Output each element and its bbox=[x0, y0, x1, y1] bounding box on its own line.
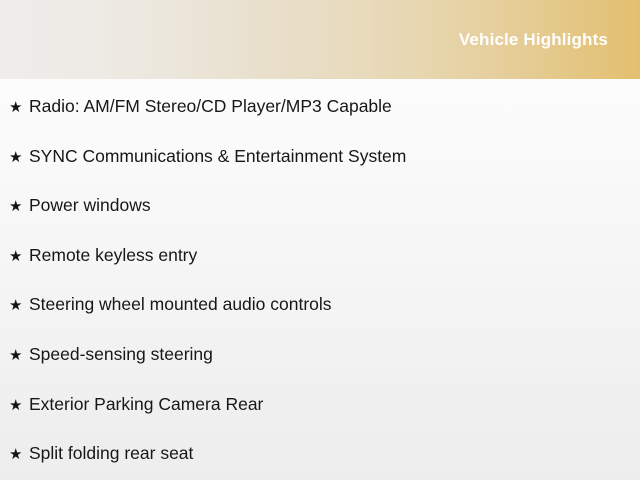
header-bar: Vehicle Highlights bbox=[0, 0, 640, 79]
star-bullet-icon: ★ bbox=[9, 249, 29, 264]
star-bullet-icon: ★ bbox=[9, 398, 29, 413]
list-item: ★ Split folding rear seat bbox=[0, 445, 640, 480]
list-item-label: Radio: AM/FM Stereo/CD Player/MP3 Capabl… bbox=[29, 98, 392, 116]
list-item: ★ Exterior Parking Camera Rear bbox=[0, 396, 640, 446]
list-item-label: Steering wheel mounted audio controls bbox=[29, 296, 332, 314]
list-item-label: Remote keyless entry bbox=[29, 247, 197, 265]
vehicle-highlights-panel: Vehicle Highlights ★ Radio: AM/FM Stereo… bbox=[0, 0, 640, 480]
star-bullet-icon: ★ bbox=[9, 150, 29, 165]
star-bullet-icon: ★ bbox=[9, 447, 29, 462]
list-item-label: SYNC Communications & Entertainment Syst… bbox=[29, 148, 406, 166]
list-item: ★ SYNC Communications & Entertainment Sy… bbox=[0, 148, 640, 198]
star-bullet-icon: ★ bbox=[9, 348, 29, 363]
star-bullet-icon: ★ bbox=[9, 199, 29, 214]
list-item: ★ Steering wheel mounted audio controls bbox=[0, 296, 640, 346]
vehicle-highlights-list: ★ Radio: AM/FM Stereo/CD Player/MP3 Capa… bbox=[0, 79, 640, 480]
list-item: ★ Speed-sensing steering bbox=[0, 346, 640, 396]
list-item-label: Exterior Parking Camera Rear bbox=[29, 396, 263, 414]
star-bullet-icon: ★ bbox=[9, 100, 29, 115]
list-item: ★ Radio: AM/FM Stereo/CD Player/MP3 Capa… bbox=[0, 79, 640, 148]
list-item-label: Power windows bbox=[29, 197, 151, 215]
page-title: Vehicle Highlights bbox=[459, 31, 640, 48]
star-bullet-icon: ★ bbox=[9, 298, 29, 313]
list-item-label: Speed-sensing steering bbox=[29, 346, 213, 364]
list-item-label: Split folding rear seat bbox=[29, 445, 193, 463]
list-item: ★ Power windows bbox=[0, 197, 640, 247]
list-item: ★ Remote keyless entry bbox=[0, 247, 640, 297]
